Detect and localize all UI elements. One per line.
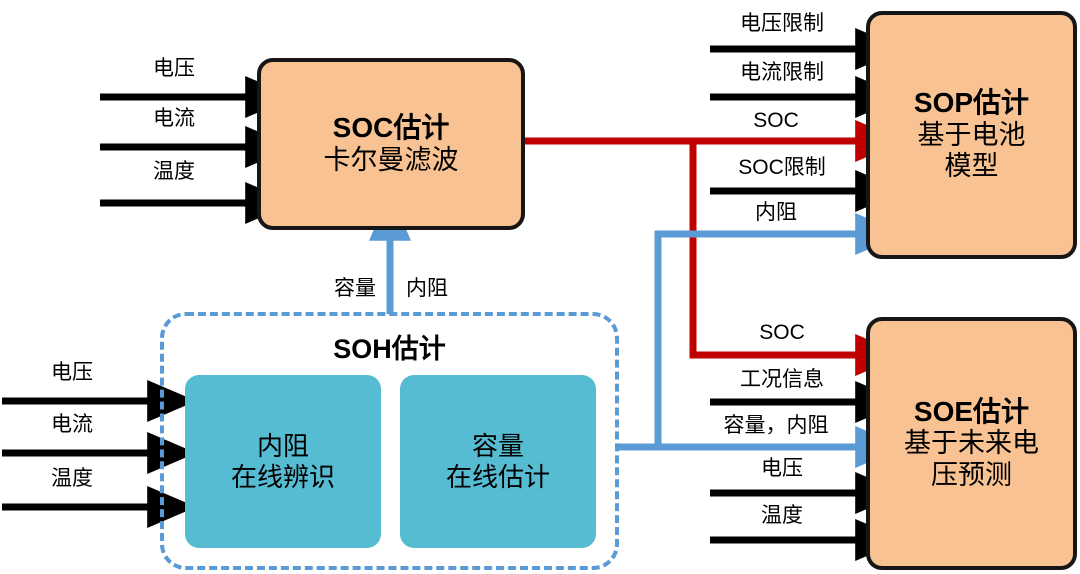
block-soh-resistance-line2: 在线辨识: [231, 462, 335, 492]
signal-label-soc-input-temperature: 温度: [153, 161, 195, 182]
signal-label-sop-input-voltage-limit: 电压限制: [740, 13, 824, 34]
block-soh-capacity-line1: 容量: [472, 431, 524, 461]
block-soc-subtitle: 卡尔曼滤波: [324, 145, 459, 176]
signal-label-soh-to-soc-resistance: 内阻: [406, 278, 448, 299]
block-soe[interactable]: SOE估计 基于未来电 压预测: [866, 317, 1077, 570]
signal-label-soh-input-voltage: 电压: [51, 362, 93, 383]
block-soc[interactable]: SOC估计 卡尔曼滤波: [257, 58, 525, 230]
block-soh-title: SOH估计: [160, 327, 619, 366]
signal-label-sop-input-current-limit: 电流限制: [740, 62, 824, 83]
block-sop[interactable]: SOP估计 基于电池 模型: [866, 11, 1077, 259]
signal-label-sop-input-resistance: 内阻: [755, 202, 797, 223]
diagram-canvas: SOC估计 卡尔曼滤波 SOP估计 基于电池 模型 SOE估计 基于未来电 压预…: [0, 0, 1080, 574]
block-sop-subtitle-line1: 基于电池: [918, 120, 1026, 151]
signal-label-soh-to-soc-capacity: 容量: [334, 278, 376, 299]
signal-label-soe-input-voltage: 电压: [761, 458, 803, 479]
signal-label-soe-input-temperature: 温度: [761, 505, 803, 526]
signal-label-soc-input-current: 电流: [153, 108, 195, 129]
block-soe-title: SOE估计: [914, 396, 1029, 428]
signal-label-soh-input-current: 电流: [51, 414, 93, 435]
block-soh-resistance-line1: 内阻: [257, 431, 309, 461]
block-sop-title: SOP估计: [914, 87, 1029, 119]
signal-label-soc-input-voltage: 电压: [153, 58, 195, 79]
signal-label-soe-input-soc: SOC: [759, 322, 805, 343]
block-soe-subtitle-line1: 基于未来电: [904, 428, 1039, 459]
block-soh-capacity-line2: 在线估计: [446, 462, 550, 492]
block-sop-subtitle-line2: 模型: [945, 151, 999, 182]
signal-label-sop-input-soc-limit: SOC限制: [738, 157, 826, 178]
signal-label-soh-input-temperature: 温度: [51, 468, 93, 489]
block-soh-capacity[interactable]: 容量 在线估计: [400, 375, 596, 548]
block-soe-subtitle-line2: 压预测: [931, 460, 1012, 491]
signal-label-soe-input-capacity-resistance: 容量，内阻: [724, 415, 829, 436]
signal-label-sop-input-soc: SOC: [753, 110, 799, 131]
block-soc-title: SOC估计: [333, 112, 450, 144]
signal-label-soe-input-condition: 工况信息: [740, 369, 824, 390]
block-soh-resistance[interactable]: 内阻 在线辨识: [185, 375, 381, 548]
